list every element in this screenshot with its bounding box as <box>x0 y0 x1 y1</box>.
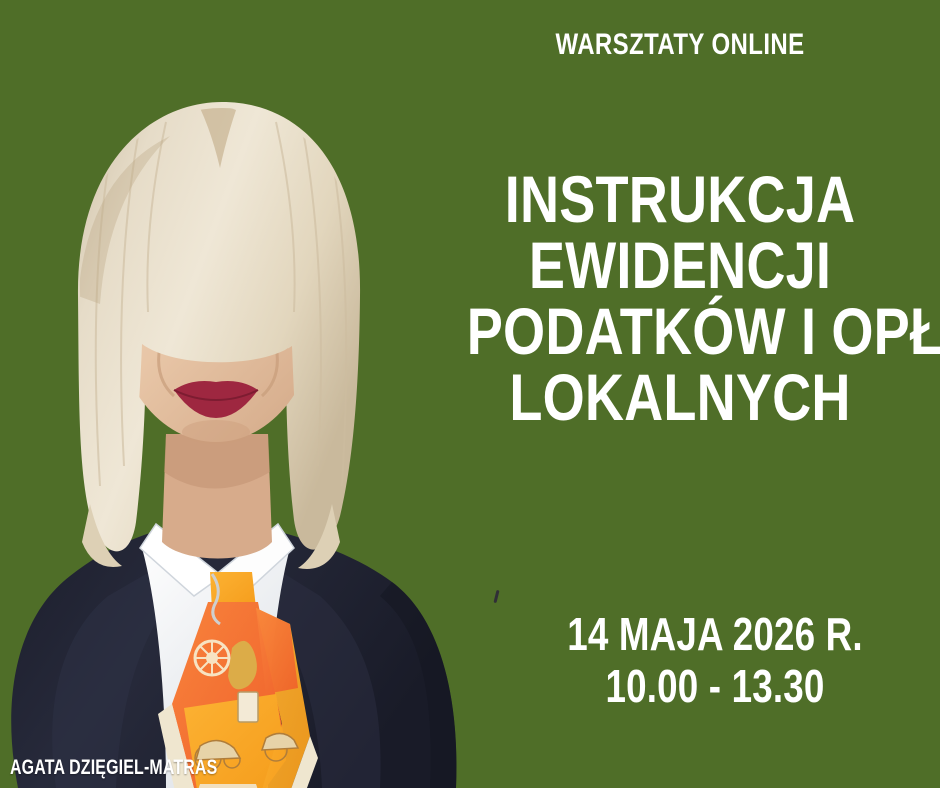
speaker-name-label: AGATA DZIĘGIEL-MATRAS <box>10 757 217 779</box>
event-datetime: 14 MAJA 2026 R. 10.00 - 13.30 <box>455 608 940 712</box>
poster-title: INSTRUKCJA EWIDENCJI PODATKÓW I OPŁAT LO… <box>420 166 940 430</box>
title-line-4: LOKALNYCH <box>467 364 893 430</box>
poster-canvas: WARSZTATY ONLINE INSTRUKCJA EWIDENCJI PO… <box>0 0 940 788</box>
portrait-neck <box>162 434 272 559</box>
stray-hair-artifact <box>493 590 499 603</box>
portrait-blazer <box>11 526 456 788</box>
portrait-hair-back <box>78 102 360 551</box>
kicker-label: WARSZTATY ONLINE <box>488 29 872 61</box>
title-line-3: PODATKÓW I OPŁAT <box>467 298 893 364</box>
portrait-hair-front <box>78 102 360 551</box>
portrait-hair-tips <box>82 504 340 569</box>
portrait-glasses <box>116 264 316 329</box>
title-line-2: EWIDENCJI <box>467 232 893 298</box>
event-date: 14 MAJA 2026 R. <box>507 608 923 660</box>
event-time: 10.00 - 13.30 <box>507 660 923 712</box>
speaker-portrait-photo <box>0 96 480 788</box>
portrait-face <box>103 178 329 444</box>
title-line-1: INSTRUKCJA <box>467 166 893 232</box>
portrait-shirt <box>140 524 294 788</box>
